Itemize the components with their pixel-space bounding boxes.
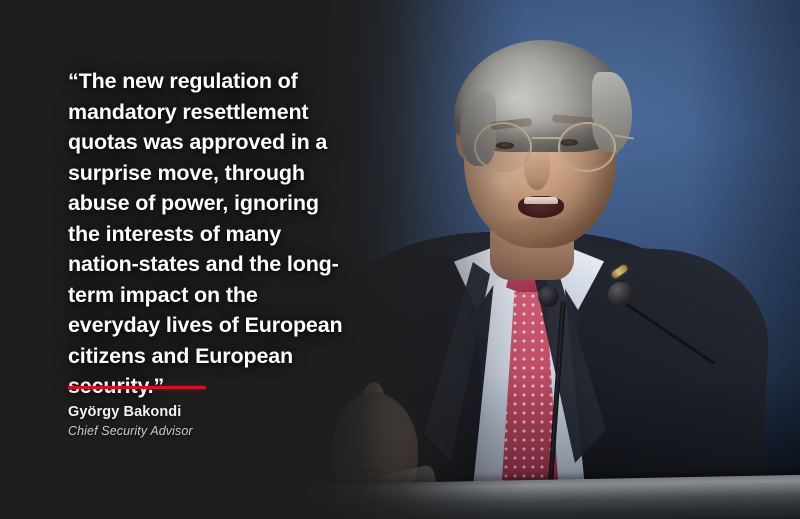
- chin-shadow: [492, 218, 588, 244]
- quote-card: “The new regulation of mandatory resettl…: [0, 0, 800, 519]
- microphone-head-center: [538, 286, 559, 307]
- lens-right: [558, 122, 616, 172]
- teeth: [524, 197, 558, 204]
- speaker-photo: [296, 0, 800, 519]
- quote-panel: “The new regulation of mandatory resettl…: [0, 0, 330, 519]
- speaker-figure: [296, 0, 800, 519]
- author-name: György Bakondi: [68, 404, 181, 420]
- glasses-bridge: [532, 137, 560, 139]
- quote-text: “The new regulation of mandatory resettl…: [68, 66, 350, 402]
- microphone-head-right: [608, 282, 634, 306]
- nose: [524, 146, 550, 190]
- author-role: Chief Security Advisor: [68, 424, 193, 438]
